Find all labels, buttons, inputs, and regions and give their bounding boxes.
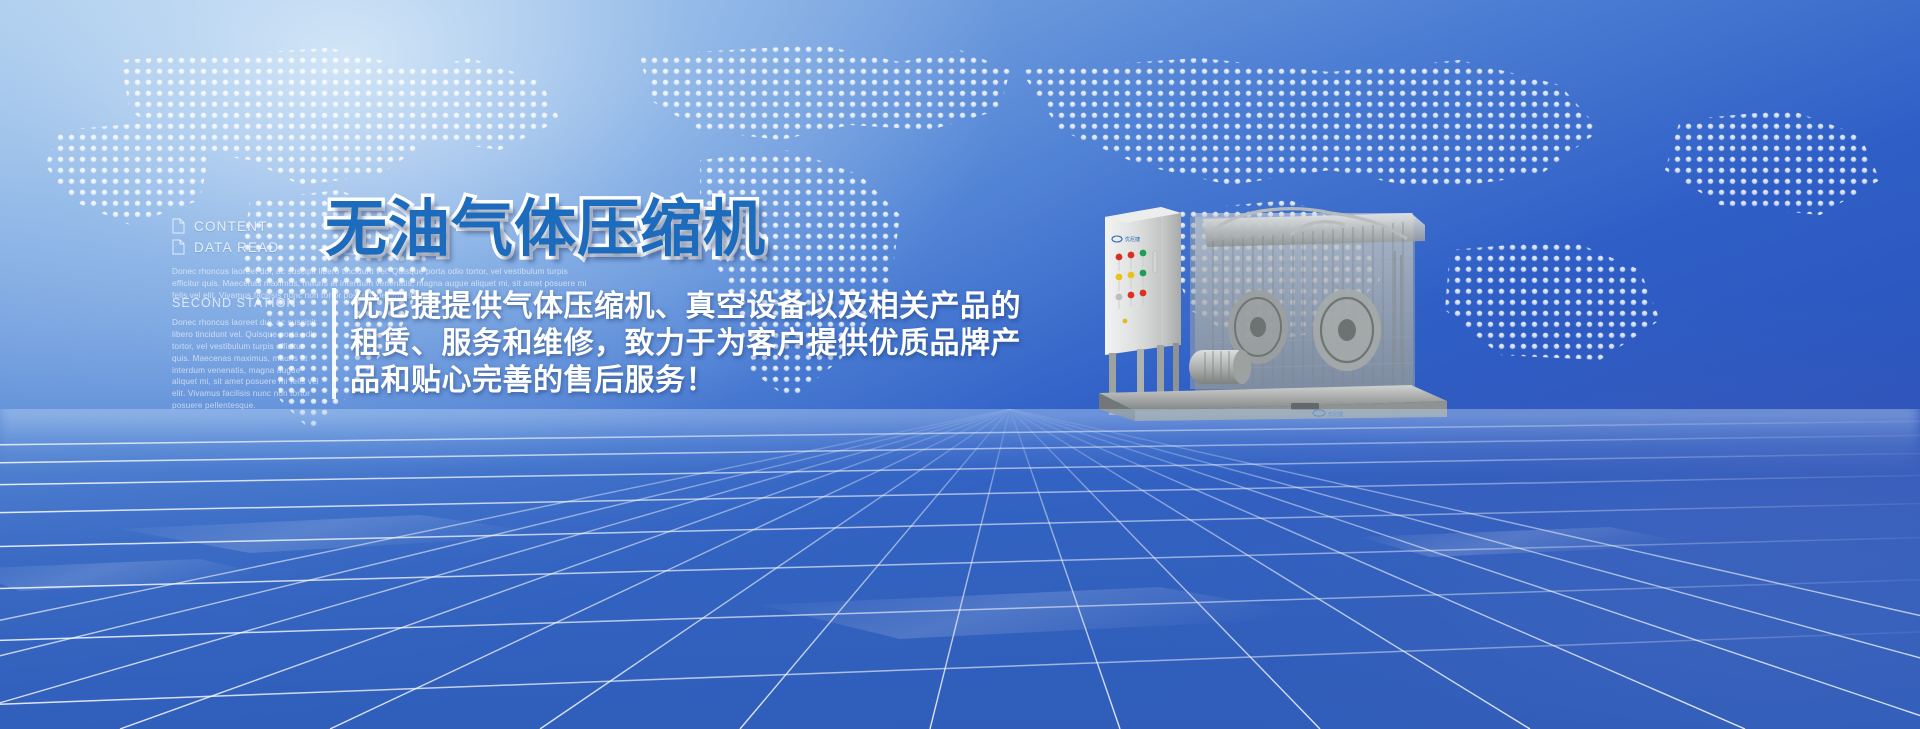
banner-description: 优尼捷提供气体压缩机、真空设备以及相关产品的 租赁、服务和维修，致力于为客户提供… [332,288,972,399]
faint-row-data-read: DATA READ [172,239,279,255]
description-line: 优尼捷提供气体压缩机、真空设备以及相关产品的 [350,288,972,325]
document-icon [172,239,185,255]
description-line: 租赁、服务和维修，致力于为客户提供优质品牌产 [350,325,972,362]
description-line: 品和贴心完善的售后服务！ [350,362,972,399]
hero-banner: CONTENT DATA READ LOADER Donec rhoncus l… [0,0,1920,729]
faint-info-block-second-station: SECOND STATION Donec rhoncus laoreet dui… [172,296,332,412]
perspective-grid-floor [0,409,1920,729]
page-title: 无油气体压缩机 [325,178,766,268]
document-icon [172,218,185,234]
second-station-paragraph: Donec rhoncus laoreet dui, ac suscipit l… [172,317,324,412]
content-label: CONTENT [194,219,268,234]
machine-brand-mark: 优尼捷 [1125,236,1140,243]
data-read-label: DATA READ [194,240,279,255]
faint-row-content: CONTENT [172,218,268,234]
compressor-machine-image: 优尼捷 [1095,195,1455,445]
second-station-label: SECOND STATION [172,296,332,310]
